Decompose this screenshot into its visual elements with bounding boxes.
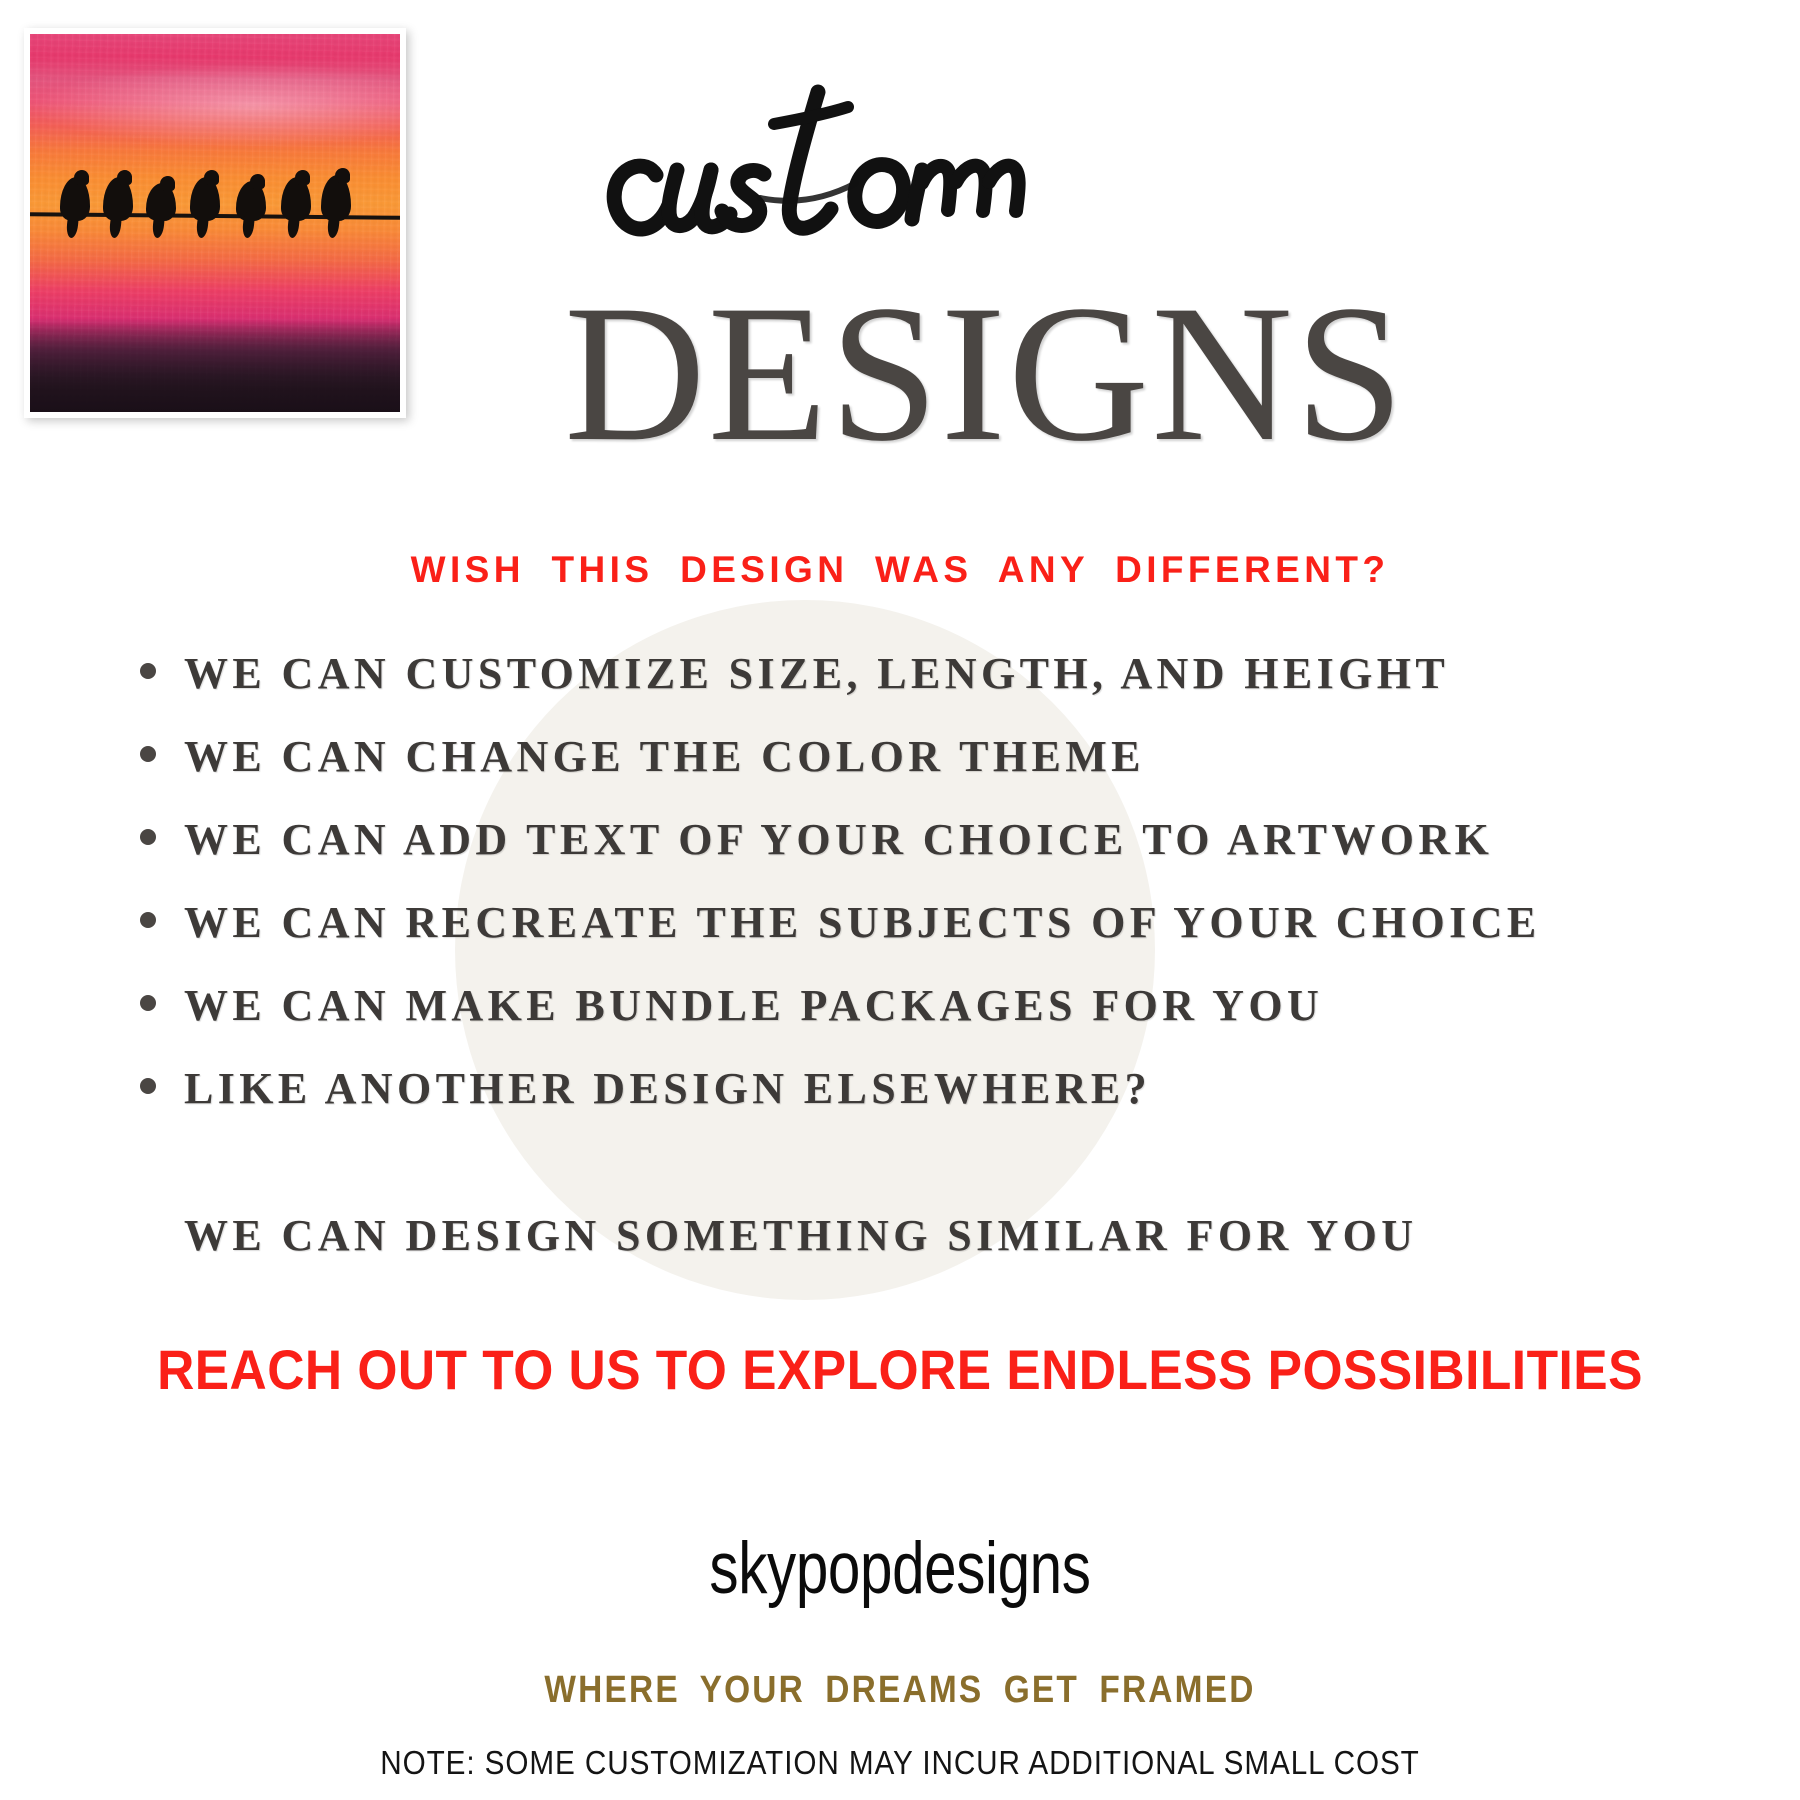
bird-icon — [236, 181, 266, 221]
list-item: WE CAN ADD TEXT OF YOUR CHOICE TO ARTWOR… — [140, 814, 1720, 897]
list-item-label: WE CAN ADD TEXT OF YOUR CHOICE TO ARTWOR… — [184, 814, 1493, 865]
list-item-label: WE CAN CUSTOMIZE SIZE, LENGTH, AND HEIGH… — [184, 648, 1449, 699]
bird-icon — [281, 177, 311, 221]
feature-list: WE CAN CUSTOMIZE SIZE, LENGTH, AND HEIGH… — [140, 648, 1720, 1146]
bird-icon — [190, 177, 220, 221]
call-to-action: REACH OUT TO US TO EXPLORE ENDLESS POSSI… — [72, 1337, 1728, 1402]
brand-logo-text: skypopdesigns — [180, 1527, 1620, 1610]
bullet-icon — [140, 1078, 156, 1094]
list-item: WE CAN CUSTOMIZE SIZE, LENGTH, AND HEIGH… — [140, 648, 1720, 731]
bird-icon — [103, 177, 133, 221]
list-item: WE CAN MAKE BUNDLE PACKAGES FOR YOU — [140, 980, 1720, 1063]
list-item-label: WE CAN MAKE BUNDLE PACKAGES FOR YOU — [184, 980, 1323, 1031]
bullet-icon — [140, 829, 156, 845]
list-item-continuation: WE CAN DESIGN SOMETHING SIMILAR FOR YOU — [184, 1210, 1417, 1261]
page-title: DESIGNS — [0, 276, 1800, 472]
bird-icon — [321, 175, 351, 221]
list-item: WE CAN RECREATE THE SUBJECTS OF YOUR CHO… — [140, 897, 1720, 980]
bird-icon — [60, 177, 90, 221]
list-item-label: WE CAN RECREATE THE SUBJECTS OF YOUR CHO… — [184, 897, 1541, 948]
brand-tagline: WHERE YOUR DREAMS GET FRAMED — [108, 1669, 1692, 1712]
bullet-icon — [140, 912, 156, 928]
list-item: LIKE ANOTHER DESIGN ELSEWHERE? — [140, 1063, 1720, 1146]
bullet-icon — [140, 995, 156, 1011]
bullet-icon — [140, 746, 156, 762]
bullet-icon — [140, 663, 156, 679]
bird-icon — [146, 183, 176, 221]
footer-note: NOTE: SOME CUSTOMIZATION MAY INCUR ADDIT… — [90, 1744, 1710, 1782]
subtitle: WISH THIS DESIGN WAS ANY DIFFERENT? — [0, 549, 1800, 591]
list-item-label: WE CAN CHANGE THE COLOR THEME — [184, 731, 1145, 782]
custom-script-wordmark — [560, 78, 1120, 263]
list-item: WE CAN CHANGE THE COLOR THEME — [140, 731, 1720, 814]
list-item-label: LIKE ANOTHER DESIGN ELSEWHERE? — [184, 1063, 1151, 1114]
